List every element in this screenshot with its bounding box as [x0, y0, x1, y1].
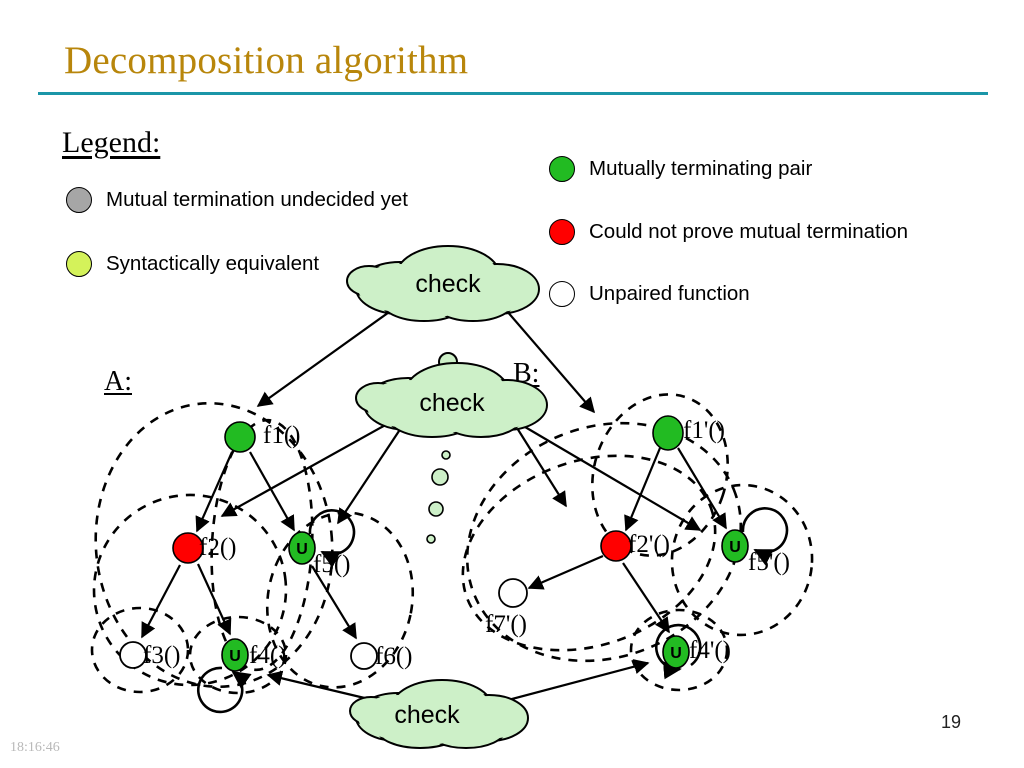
arrow-cloud-bottom-to-f4p	[508, 663, 648, 700]
node-f5-label: f5()	[313, 551, 350, 578]
node-f4p-badge: U	[670, 645, 682, 662]
cloud-middle-trail-bubbles	[427, 451, 450, 543]
node-f2-label: f2()	[199, 534, 236, 561]
self-loop-f5p	[743, 508, 787, 552]
node-f4-badge: U	[229, 648, 241, 665]
arrow-cloud-mid-to-f2p	[512, 420, 566, 506]
node-f5p-badge: U	[729, 539, 741, 556]
cloud-top[interactable]: check	[347, 246, 539, 321]
cloud-middle-label: check	[419, 389, 485, 417]
edge-f2p-f7p	[529, 556, 603, 588]
node-f1p[interactable]: f1'()	[653, 416, 725, 450]
node-f2[interactable]: f2()	[173, 533, 236, 563]
cloud-top-label: check	[415, 270, 481, 298]
node-f7p-label: f7'()	[485, 611, 527, 638]
node-f5p-label: f5'()	[748, 549, 790, 576]
node-f4p-label: f4'()	[689, 637, 731, 664]
edge-f1p-f5p	[678, 448, 726, 528]
arrow-cloud-bottom-to-f4	[268, 675, 373, 700]
edge-f1-f5	[250, 452, 294, 530]
node-f5-badge: U	[296, 541, 308, 558]
node-f4[interactable]: U f4()	[222, 639, 286, 671]
node-f1p-label: f1'()	[683, 417, 725, 444]
cloud-bottom[interactable]: check	[350, 680, 528, 748]
node-f7p-circle[interactable]	[499, 579, 527, 607]
node-f4p[interactable]: U f4'()	[663, 636, 731, 668]
node-f1p-circle[interactable]	[653, 416, 683, 450]
node-f4-label: f4()	[249, 642, 286, 669]
node-f5[interactable]: U f5()	[289, 532, 350, 578]
arrow-cloud-mid-to-f5	[338, 425, 403, 523]
slide-canvas: Decomposition algorithm Legend: Mutual t…	[0, 0, 1024, 768]
node-f2p-label: f2'()	[628, 531, 670, 558]
node-f3-label: f3()	[143, 642, 180, 669]
node-f6[interactable]: f6()	[351, 643, 412, 670]
node-f6-circle[interactable]	[351, 643, 377, 669]
scc-region-left-f5-f6	[251, 499, 428, 701]
timestamp: 18:16:46	[10, 740, 60, 756]
node-f3[interactable]: f3()	[120, 642, 180, 669]
graph-a-nodes: f1() f2() U f5() f3() U f4()	[120, 422, 412, 671]
page-number: 19	[941, 712, 961, 733]
edge-f2-f3	[142, 565, 180, 637]
node-f2p[interactable]: f2'()	[601, 531, 670, 561]
node-f5p[interactable]: U f5'()	[722, 530, 790, 576]
cloud-bottom-label: check	[394, 701, 460, 729]
node-f2p-circle[interactable]	[601, 531, 631, 561]
node-f1-circle[interactable]	[225, 422, 255, 452]
node-f1-label: f1()	[263, 422, 300, 449]
node-f1[interactable]: f1()	[225, 422, 300, 452]
cloud-middle[interactable]: check	[356, 353, 547, 543]
node-f6-label: f6()	[375, 643, 412, 670]
node-f7p[interactable]: f7'()	[485, 579, 527, 638]
decomposition-diagram: f1() f2() U f5() f3() U f4()	[0, 0, 1024, 768]
